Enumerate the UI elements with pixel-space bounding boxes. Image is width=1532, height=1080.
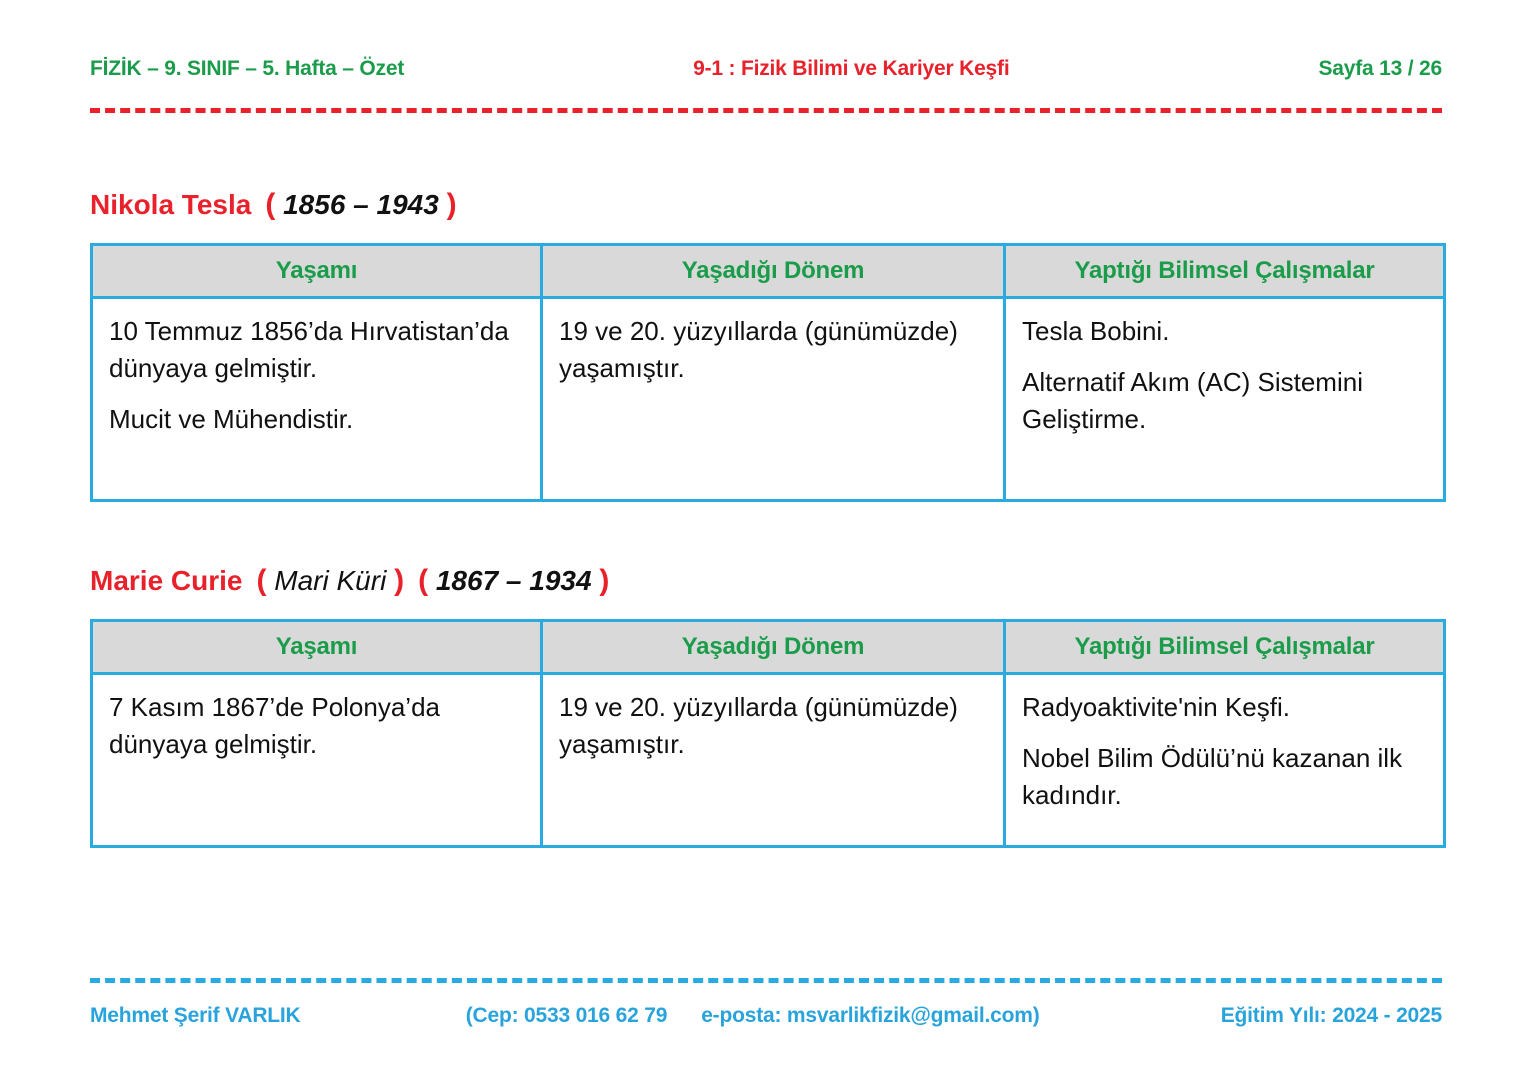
cell-text: 10 Temmuz 1856’da Hırvatistan’da dünyaya… — [109, 313, 524, 387]
footer-divider-rule — [90, 978, 1442, 983]
open-paren-curie: ( — [418, 564, 428, 597]
person-title-tesla: Nikola Tesla( 1856 – 1943 ) — [90, 190, 457, 220]
cell-text: 7 Kasım 1867’de Polonya’da dünyaya gelmi… — [109, 689, 524, 763]
column-header-yasami: Yaşamı — [92, 621, 542, 674]
cell-text: Nobel Bilim Ödülü’nü kazanan ilk kadındı… — [1022, 740, 1427, 814]
cell-tesla-yasami: 10 Temmuz 1856’da Hırvatistan’da dünyaya… — [92, 298, 542, 501]
pron-close-paren-curie: ) — [394, 564, 404, 597]
cell-text: Mucit ve Mühendistir. — [109, 401, 524, 438]
page-footer: Mehmet Şerif VARLIK (Cep: 0533 016 62 79… — [90, 1000, 1442, 1032]
cell-text: Alternatif Akım (AC) Sistemini Geliştirm… — [1022, 364, 1427, 438]
footer-education-year: Eğitim Yılı: 2024 - 2025 — [1221, 1004, 1442, 1028]
header-topic-title: 9-1 : Fizik Bilimi ve Kariyer Keşfi — [693, 57, 1009, 81]
column-header-donem: Yaşadığı Dönem — [542, 621, 1005, 674]
column-header-donem: Yaşadığı Dönem — [542, 245, 1005, 298]
table-curie: Yaşamı Yaşadığı Dönem Yaptığı Bilimsel Ç… — [90, 619, 1446, 848]
header-divider-rule — [90, 108, 1442, 113]
column-header-calismalar: Yaptığı Bilimsel Çalışmalar — [1005, 245, 1445, 298]
pron-open-paren-curie: ( — [257, 564, 267, 597]
cell-curie-yasami: 7 Kasım 1867’de Polonya’da dünyaya gelmi… — [92, 674, 542, 847]
cell-curie-calismalar: Radyoaktivite'nin Keşfi. Nobel Bilim Ödü… — [1005, 674, 1445, 847]
person-title-curie: Marie Curie( Mari Küri )( 1867 – 1934 ) — [90, 566, 609, 596]
table-row: 10 Temmuz 1856’da Hırvatistan’da dünyaya… — [92, 298, 1445, 501]
cell-tesla-calismalar: Tesla Bobini. Alternatif Akım (AC) Siste… — [1005, 298, 1445, 501]
close-paren-tesla: ) — [447, 188, 457, 221]
person-name-curie: Marie Curie — [90, 565, 243, 596]
cell-tesla-donem: 19 ve 20. yüzyıllarda (günümüzde) yaşamı… — [542, 298, 1005, 501]
header-course-label: FİZİK – 9. SINIF – 5. Hafta – Özet — [90, 57, 404, 81]
table-row: 7 Kasım 1867’de Polonya’da dünyaya gelmi… — [92, 674, 1445, 847]
table-tesla: Yaşamı Yaşadığı Dönem Yaptığı Bilimsel Ç… — [90, 243, 1446, 502]
footer-email: e-posta: msvarlikfizik@gmail.com) — [701, 1004, 1039, 1028]
cell-text: Tesla Bobini. — [1022, 313, 1427, 350]
footer-author: Mehmet Şerif VARLIK — [90, 1004, 301, 1028]
header-page-number: Sayfa 13 / 26 — [1318, 57, 1442, 81]
table-header-row: Yaşamı Yaşadığı Dönem Yaptığı Bilimsel Ç… — [92, 621, 1445, 674]
open-paren-tesla: ( — [265, 188, 275, 221]
person-years-tesla: 1856 – 1943 — [283, 189, 439, 220]
column-header-yasami: Yaşamı — [92, 245, 542, 298]
close-paren-curie: ) — [599, 564, 609, 597]
person-pronunciation-curie: Mari Küri — [274, 565, 386, 596]
cell-text: 19 ve 20. yüzyıllarda (günümüzde) yaşamı… — [559, 689, 987, 763]
table-header-row: Yaşamı Yaşadığı Dönem Yaptığı Bilimsel Ç… — [92, 245, 1445, 298]
person-years-curie: 1867 – 1934 — [436, 565, 592, 596]
page-header: FİZİK – 9. SINIF – 5. Hafta – Özet 9-1 :… — [90, 52, 1442, 86]
footer-phone: (Cep: 0533 016 62 79 — [466, 1004, 667, 1028]
cell-curie-donem: 19 ve 20. yüzyıllarda (günümüzde) yaşamı… — [542, 674, 1005, 847]
cell-text: Radyoaktivite'nin Keşfi. — [1022, 689, 1427, 726]
person-name-tesla: Nikola Tesla — [90, 189, 251, 220]
cell-text: 19 ve 20. yüzyıllarda (günümüzde) yaşamı… — [559, 313, 987, 387]
column-header-calismalar: Yaptığı Bilimsel Çalışmalar — [1005, 621, 1445, 674]
